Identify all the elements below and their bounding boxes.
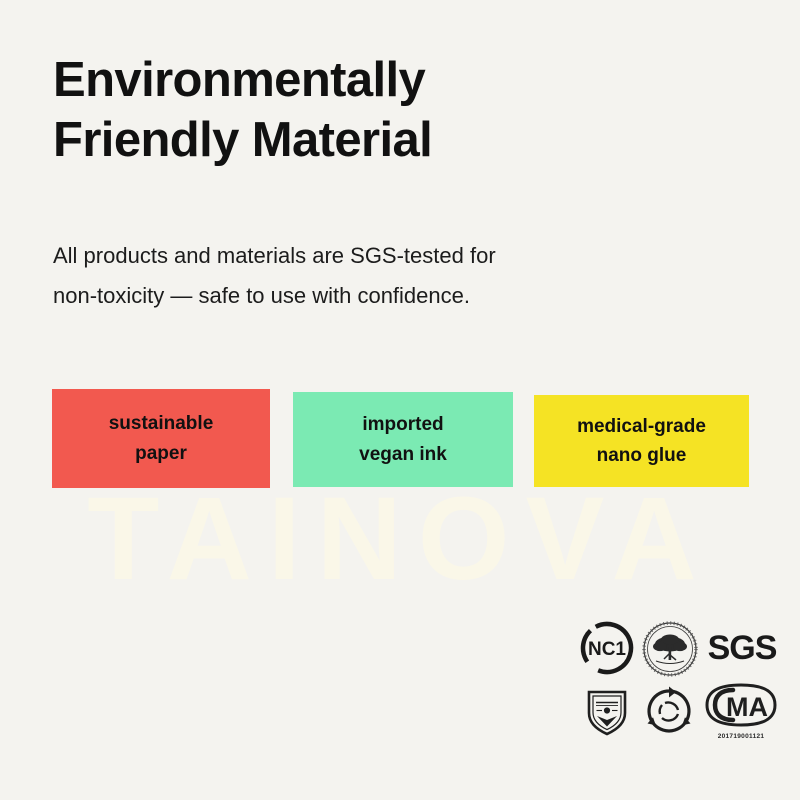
poster-canvas: TAINOVA Environmentally Friendly Materia… [0, 0, 800, 800]
page-subtitle-line-2: non-toxicity — safe to use with confiden… [53, 276, 673, 316]
page-title: Environmentally Friendly Material [53, 50, 673, 171]
material-chip-medical-grade-nano-glue: medical-grade nano glue [534, 395, 749, 487]
sgs-certification-badge: SGS [705, 628, 779, 668]
nc1-certification-badge: NC1 [579, 620, 635, 676]
cma-certification-badge: MA 201719001121 [703, 682, 779, 740]
material-chip-label-line-1: medical-grade [577, 412, 706, 441]
cma-certification-code: 201719001121 [703, 733, 779, 740]
svg-text:NC1: NC1 [588, 639, 626, 660]
certification-badge-group: NC1 SGS [575, 620, 775, 742]
brand-watermark: TAINOVA [0, 480, 800, 598]
material-chip-label-line-1: imported [362, 410, 443, 439]
material-chip-label-line-2: nano glue [597, 441, 687, 470]
material-chip-label-line-2: vegan ink [359, 440, 447, 469]
page-title-line-2: Friendly Material [53, 110, 673, 170]
material-chip-label-line-2: paper [135, 439, 187, 468]
material-chip-label-line-1: sustainable [109, 409, 214, 438]
page-subtitle-line-1: All products and materials are SGS-teste… [53, 236, 673, 276]
svg-text:MA: MA [726, 692, 768, 722]
page-subtitle: All products and materials are SGS-teste… [53, 236, 673, 316]
sgs-certification-label: SGS [708, 631, 777, 665]
recycling-certification-badge [641, 683, 697, 739]
material-chip-sustainable-paper: sustainable paper [52, 389, 270, 488]
material-chip-group: sustainable paper imported vegan ink med… [52, 389, 752, 494]
shield-certification-badge [579, 683, 635, 739]
forest-seal-certification-badge [641, 620, 699, 678]
page-title-line-1: Environmentally [53, 50, 673, 110]
material-chip-imported-vegan-ink: imported vegan ink [293, 392, 513, 487]
